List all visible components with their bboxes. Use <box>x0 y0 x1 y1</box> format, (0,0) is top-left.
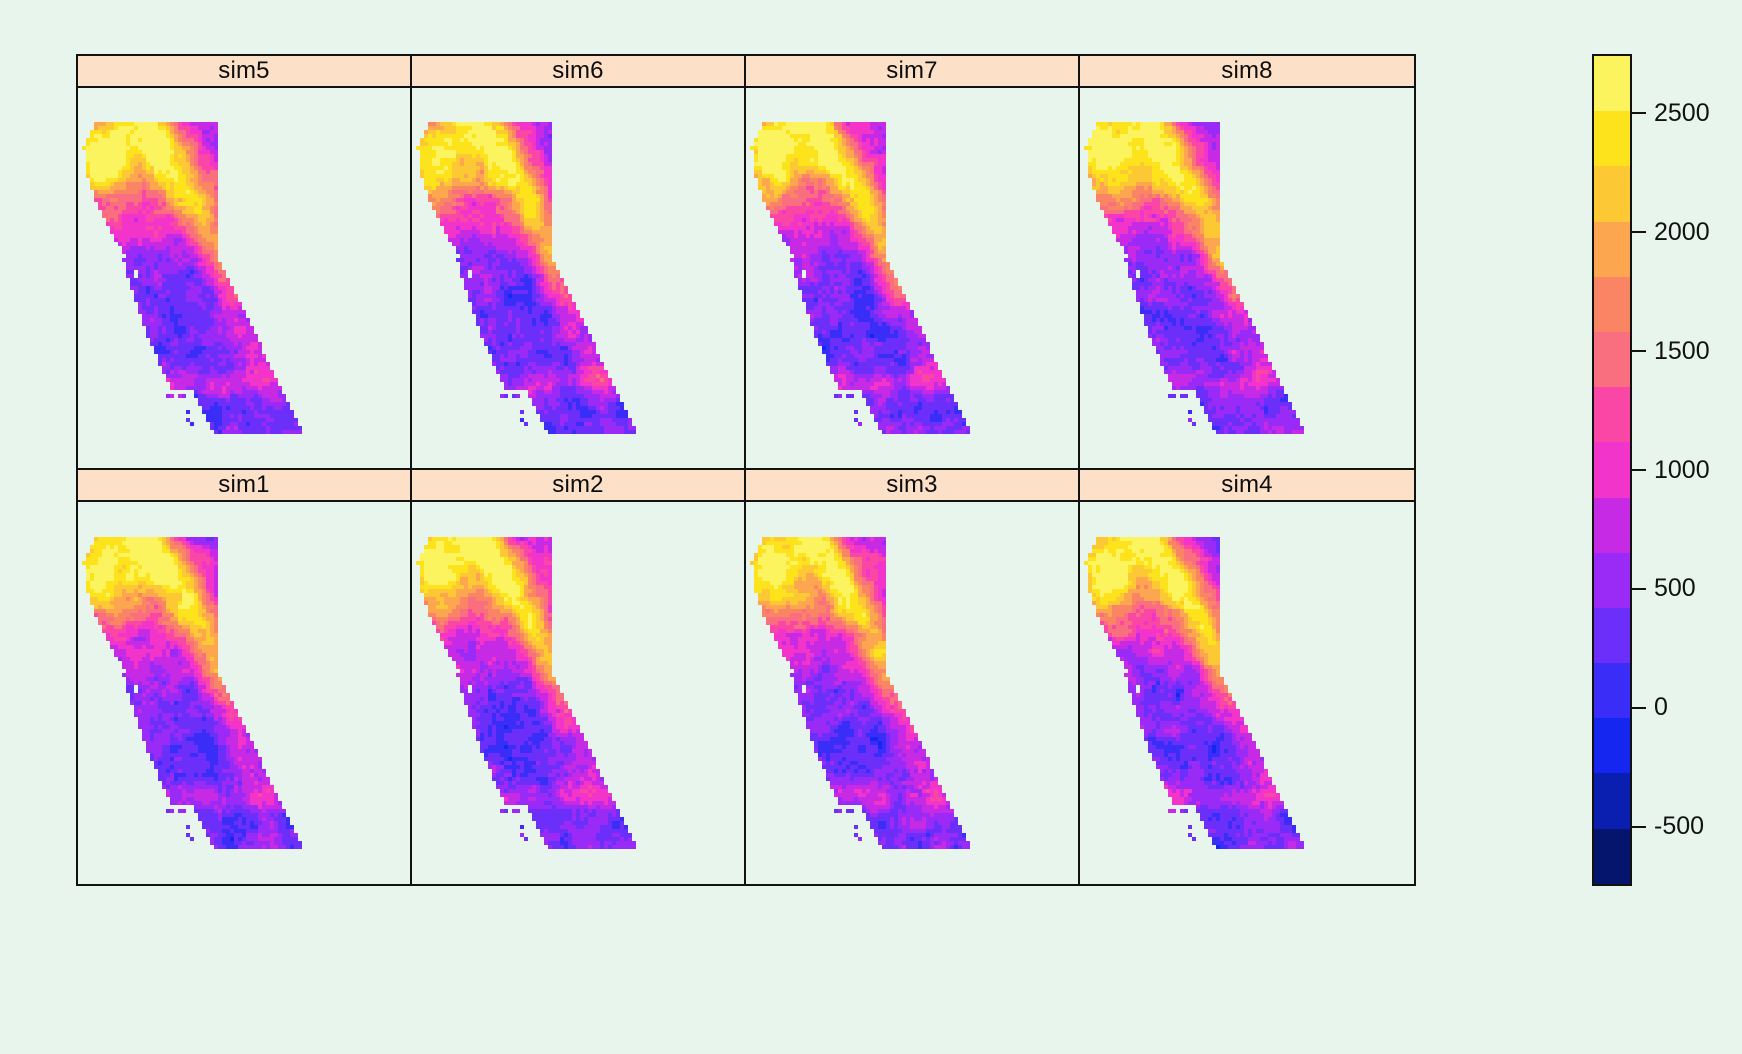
panel-grid: sim5sim6sim7sim8sim1sim2sim3sim4 <box>76 54 1416 886</box>
raster-map-sim2 <box>412 537 644 849</box>
colorbar-tick-dash <box>1632 350 1646 352</box>
panel-title-strip: sim3 <box>746 470 1078 502</box>
panel-title-label: sim2 <box>552 471 603 499</box>
panel-title-label: sim5 <box>218 57 269 85</box>
colorbar-band <box>1594 718 1630 773</box>
panel-title-label: sim7 <box>886 57 937 85</box>
panel-sim3: sim3 <box>746 470 1080 884</box>
panel-sim5: sim5 <box>78 56 412 470</box>
colorbar-tick-label: 2500 <box>1654 101 1710 126</box>
raster-map-sim3 <box>746 537 978 849</box>
raster-map-sim6 <box>412 122 644 434</box>
panel-sim7: sim7 <box>746 56 1080 470</box>
colorbar-band <box>1594 332 1630 387</box>
panel-sim2: sim2 <box>412 470 746 884</box>
panel-title-strip: sim8 <box>1080 56 1414 88</box>
panel-title-strip: sim1 <box>78 470 410 502</box>
panel-title-label: sim4 <box>1221 471 1272 499</box>
colorbar-tick-label: 2000 <box>1654 220 1710 245</box>
colorbar-band <box>1594 498 1630 553</box>
map-area-sim7 <box>746 88 1078 468</box>
panel-sim6: sim6 <box>412 56 746 470</box>
panel-sim1: sim1 <box>78 470 412 884</box>
panel-title-label: sim8 <box>1221 57 1272 85</box>
colorbar-band <box>1594 56 1630 111</box>
raster-map-sim5 <box>78 122 310 434</box>
map-area-sim4 <box>1080 502 1414 884</box>
panel-title-label: sim3 <box>886 471 937 499</box>
map-area-sim3 <box>746 502 1078 884</box>
colorbar-tick-dash <box>1632 231 1646 233</box>
panel-title-label: sim6 <box>552 57 603 85</box>
map-area-sim1 <box>78 502 410 884</box>
colorbar-tick-dash <box>1632 112 1646 114</box>
panel-title-strip: sim2 <box>412 470 744 502</box>
colorbar-tick-label: 500 <box>1654 576 1696 601</box>
colorbar-band <box>1594 166 1630 221</box>
colorbar-tick-dash <box>1632 469 1646 471</box>
map-area-sim8 <box>1080 88 1414 468</box>
map-area-sim6 <box>412 88 744 468</box>
colorbar-band <box>1594 387 1630 442</box>
colorbar-tick-label: 1000 <box>1654 458 1710 483</box>
colorbar-band <box>1594 442 1630 497</box>
colorbar-band <box>1594 773 1630 828</box>
map-area-sim2 <box>412 502 744 884</box>
panel-title-label: sim1 <box>218 471 269 499</box>
panel-title-strip: sim4 <box>1080 470 1414 502</box>
colorbar-tick-dash <box>1632 826 1646 828</box>
colorbar-band <box>1594 663 1630 718</box>
colorbar-band <box>1594 277 1630 332</box>
colorbar-band <box>1594 829 1630 884</box>
colorbar-tick-label: -500 <box>1654 814 1704 839</box>
colorbar <box>1592 54 1632 886</box>
colorbar-tick-dash <box>1632 588 1646 590</box>
raster-map-sim7 <box>746 122 978 434</box>
colorbar-tick-label: 1500 <box>1654 339 1710 364</box>
colorbar-band <box>1594 222 1630 277</box>
panel-title-strip: sim6 <box>412 56 744 88</box>
panel-title-strip: sim7 <box>746 56 1078 88</box>
colorbar-tick-dash <box>1632 707 1646 709</box>
map-area-sim5 <box>78 88 410 468</box>
panel-title-strip: sim5 <box>78 56 410 88</box>
raster-map-sim1 <box>78 537 310 849</box>
figure-root: sim5sim6sim7sim8sim1sim2sim3sim4 2500200… <box>0 0 1742 1054</box>
colorbar-band <box>1594 111 1630 166</box>
colorbar-band <box>1594 553 1630 608</box>
raster-map-sim8 <box>1080 122 1312 434</box>
colorbar-band <box>1594 608 1630 663</box>
colorbar-tick-labels: 25002000150010005000-500 <box>1632 54 1742 886</box>
panel-sim8: sim8 <box>1080 56 1414 470</box>
raster-map-sim4 <box>1080 537 1312 849</box>
panel-sim4: sim4 <box>1080 470 1414 884</box>
colorbar-tick-label: 0 <box>1654 695 1668 720</box>
